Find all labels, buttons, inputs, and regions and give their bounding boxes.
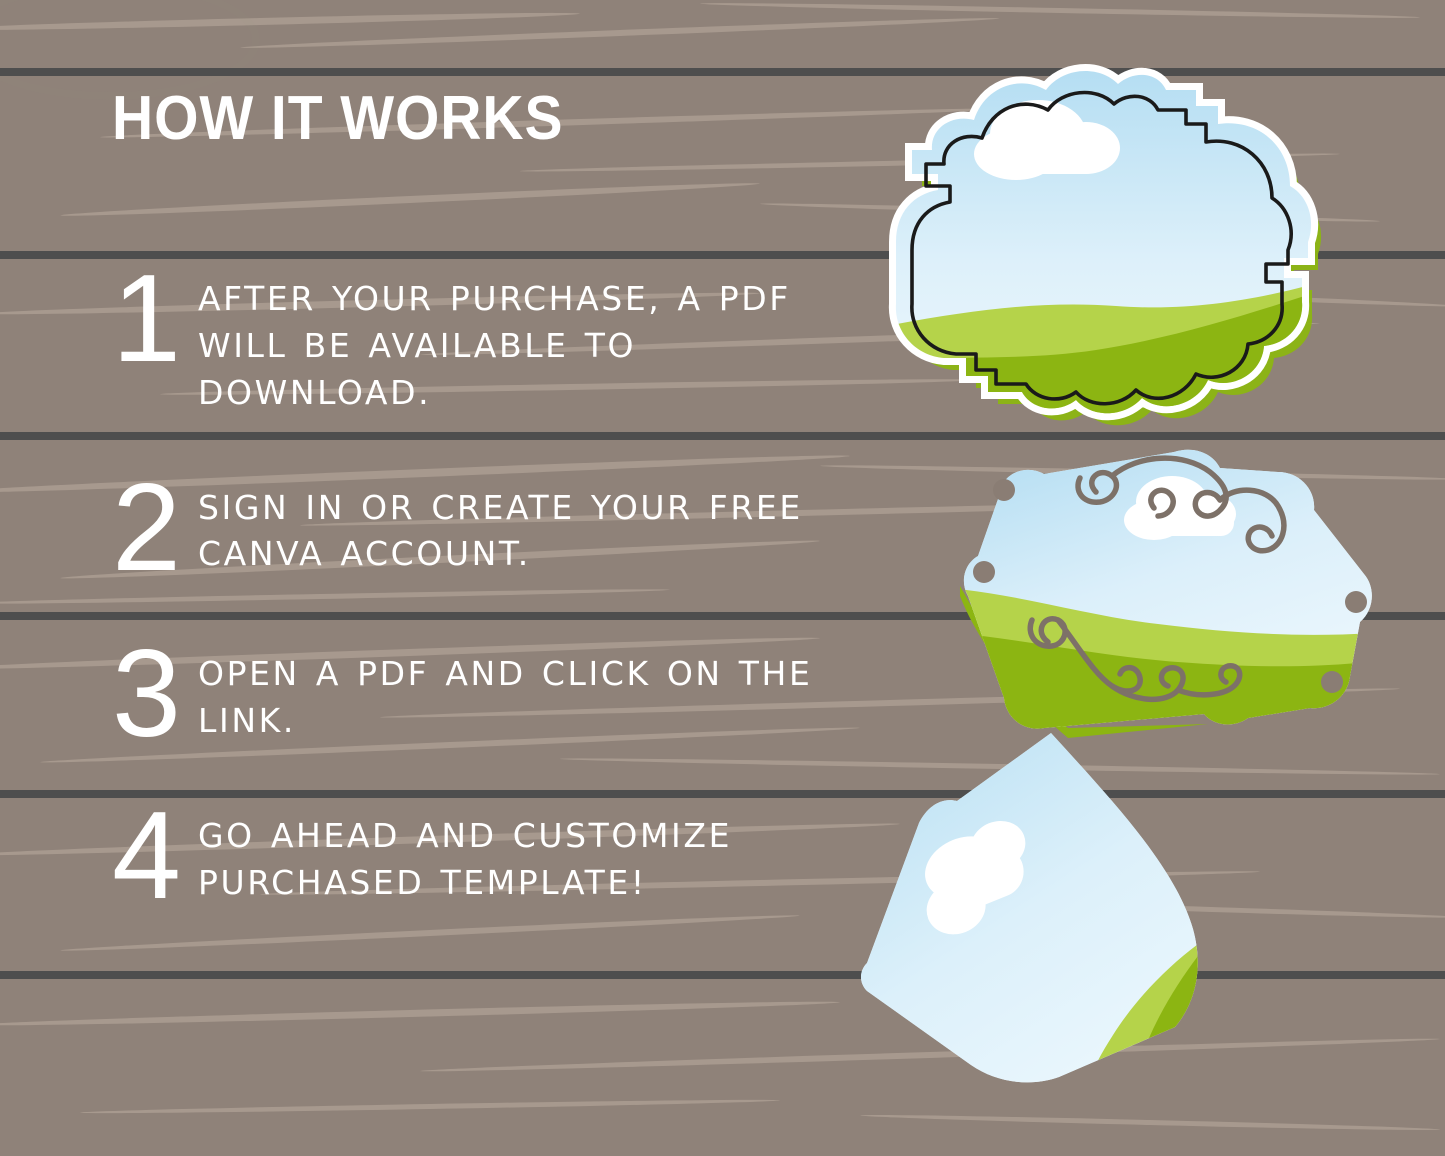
- plank-separator: [0, 971, 1445, 979]
- step-text: OPEN A PDF AND CLICK ON THE LINK.: [198, 637, 832, 745]
- step-item: 2 SIGN IN OR CREATE YOUR FREE CANVA ACCO…: [112, 471, 832, 585]
- cloud-scalloped-label: [866, 62, 1336, 422]
- tag-hole: [993, 479, 1015, 501]
- step-item: 1 AFTER YOUR PURCHASE, A PDF WILL BE AVA…: [112, 262, 832, 417]
- tag-hole: [1321, 671, 1343, 693]
- step-item: 4 GO AHEAD AND CUSTOMIZE PURCHASED TEMPL…: [112, 799, 832, 913]
- infographic-page: HOW IT WORKS 1 AFTER YOUR PURCHASE, A PD…: [0, 0, 1445, 1156]
- diamond-tag-label: [948, 446, 1388, 736]
- step-text: SIGN IN OR CREATE YOUR FREE CANVA ACCOUN…: [198, 471, 832, 579]
- step-text: GO AHEAD AND CUSTOMIZE PURCHASED TEMPLAT…: [198, 799, 832, 907]
- kite-shield-label: [845, 715, 1205, 1105]
- step-number: 3: [112, 637, 198, 751]
- step-number: 4: [112, 799, 198, 913]
- step-number: 1: [112, 262, 198, 376]
- steps-list: 1 AFTER YOUR PURCHASE, A PDF WILL BE AVA…: [112, 262, 832, 913]
- tag-hole: [1345, 591, 1367, 613]
- step-text: AFTER YOUR PURCHASE, A PDF WILL BE AVAIL…: [198, 262, 832, 417]
- step-item: 3 OPEN A PDF AND CLICK ON THE LINK.: [112, 637, 832, 751]
- tag-hole: [973, 561, 995, 583]
- step-number: 2: [112, 471, 198, 585]
- page-title: HOW IT WORKS: [112, 83, 563, 154]
